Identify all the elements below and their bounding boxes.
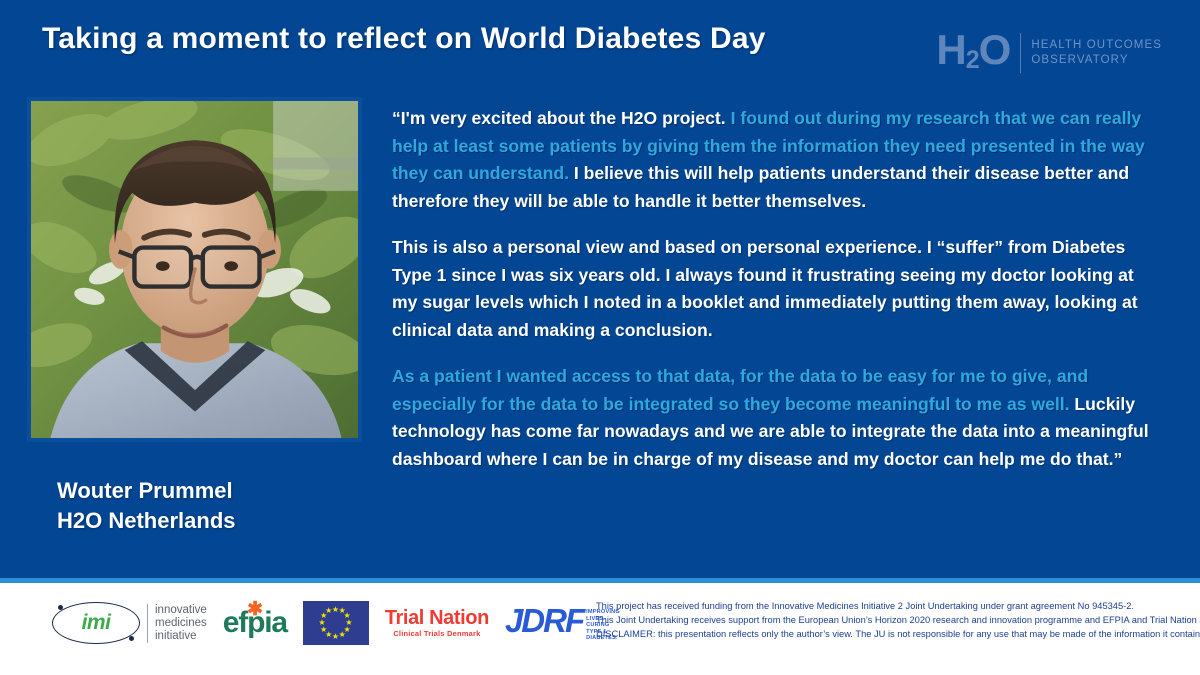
quote-paragraph: This is also a personal view and based o… <box>392 234 1154 344</box>
slide-root: Taking a moment to reflect on World Diab… <box>0 0 1200 675</box>
imi-tagline-line3: initiative <box>155 630 207 643</box>
efpia-asterisk-icon: ✱ <box>247 600 262 619</box>
quote-text: This is also a personal view and based o… <box>392 237 1138 340</box>
imi-dot-icon <box>58 605 63 610</box>
trial-nation-logo: Trial Nation Clinical Trials Denmark <box>385 608 489 638</box>
page-title: Taking a moment to reflect on World Diab… <box>42 22 766 56</box>
disclaimer-line-3: DISCLAIMER: this presentation reflects o… <box>596 627 1176 641</box>
trial-nation-wordmark: Trial Nation <box>385 608 489 629</box>
funding-disclaimer: This project has received funding from t… <box>596 599 1176 642</box>
h2o-logo: H2O Health Outcomes Observatory <box>936 33 1162 73</box>
h2o-letter-h: H <box>936 33 965 67</box>
imi-tagline: innovative medicines initiative <box>147 604 207 643</box>
european-union-flag: ★★★★★★★★★★★★ <box>303 601 369 645</box>
h2o-letter-o: O <box>979 33 1011 67</box>
portrait-illustration <box>31 101 358 438</box>
quote-text: “I'm very excited about the H2O project. <box>392 108 731 128</box>
footer-bar: imi innovative medicines initiative efpi… <box>0 583 1200 675</box>
imi-oval-icon: imi <box>52 602 140 644</box>
disclaimer-line-1: This project has received funding from t… <box>596 599 1176 613</box>
quote-paragraph: “I'm very excited about the H2O project.… <box>392 105 1154 215</box>
eu-star-icon: ★ <box>325 607 333 615</box>
caption-name: Wouter Prummel <box>57 476 236 506</box>
logo-divider <box>1020 33 1021 73</box>
trial-nation-tagline: Clinical Trials Denmark <box>385 629 489 638</box>
quote-highlight-text: As a patient I wanted access to that dat… <box>392 366 1088 414</box>
jdrf-wordmark: JDRF <box>505 604 583 637</box>
disclaimer-line-2: This Joint Undertaking receives support … <box>596 613 1176 627</box>
imi-logo: imi innovative medicines initiative <box>52 602 207 644</box>
caption-org: H2O Netherlands <box>57 506 236 536</box>
imi-tagline-line1: innovative <box>155 604 207 617</box>
portrait-caption: Wouter Prummel H2O Netherlands <box>57 476 236 536</box>
h2o-tagline-line1: Health Outcomes <box>1031 38 1162 53</box>
h2o-wordmark: H2O <box>936 33 1010 73</box>
funder-logo-row: imi innovative medicines initiative efpi… <box>52 596 620 650</box>
quote-block: “I'm very excited about the H2O project.… <box>392 105 1154 473</box>
imi-wordmark: imi <box>82 611 111 635</box>
h2o-tagline: Health Outcomes Observatory <box>1031 38 1162 68</box>
quote-paragraph: As a patient I wanted access to that dat… <box>392 363 1154 473</box>
h2o-subscript-2: 2 <box>966 43 979 77</box>
portrait-photo <box>27 97 362 442</box>
h2o-tagline-line2: Observatory <box>1031 53 1162 68</box>
imi-tagline-line2: medicines <box>155 617 207 630</box>
imi-dot-icon <box>129 636 134 641</box>
efpia-logo: efpia ✱ <box>223 606 287 640</box>
